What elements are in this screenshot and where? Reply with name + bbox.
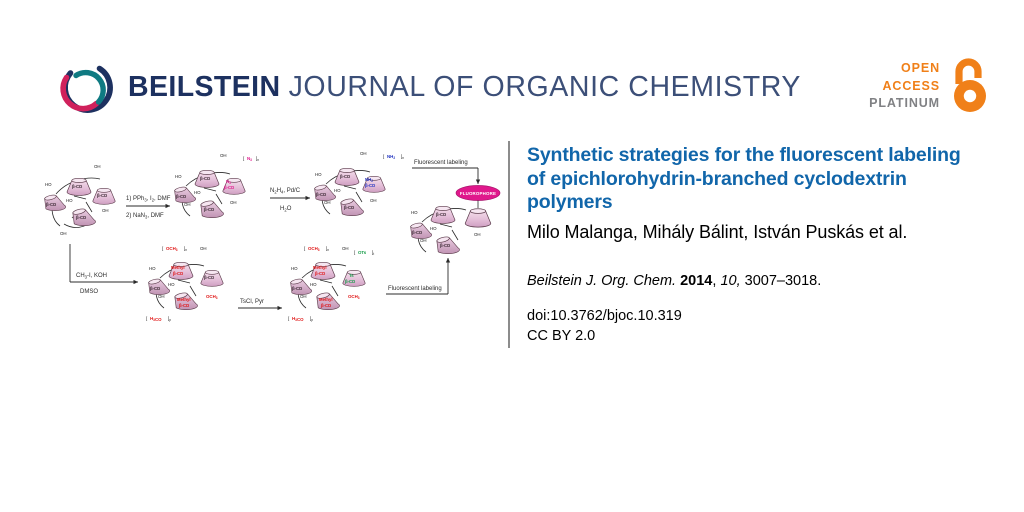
beilstein-swirl-logo-icon — [52, 56, 118, 122]
svg-text:β-CD: β-CD — [97, 193, 107, 198]
svg-text:]t: ]t — [372, 250, 374, 256]
reagent-step3b: DMSO — [80, 289, 98, 295]
svg-text:β-CD: β-CD — [46, 202, 56, 207]
citation-journal: Beilstein J. Org. Chem. — [527, 273, 676, 289]
svg-text:OH: OH — [230, 200, 237, 205]
reagent-step1a: 1) PPh3, I2, DMF — [126, 196, 171, 203]
svg-text:β-CD: β-CD — [345, 279, 355, 284]
wordmark-beilstein: BEILSTEIN — [128, 71, 280, 103]
svg-text:HO: HO — [168, 282, 175, 287]
open-padlock-icon — [946, 58, 996, 116]
masthead: BEILSTEIN JOURNAL OF ORGANIC CHEMISTRY O… — [0, 0, 1024, 132]
svg-text:OH: OH — [60, 231, 67, 236]
svg-text:β-CD: β-CD — [316, 192, 326, 197]
structure-tosylated-polymer: β-CD Methyl β-CD Ts β-CD Methyl β-CD OH … — [288, 246, 374, 322]
svg-text:H3CO: H3CO — [292, 316, 304, 322]
article-title[interactable]: Synthetic strategies for the fluorescent… — [527, 144, 977, 215]
svg-text:HO: HO — [149, 266, 156, 271]
svg-text:Methyl: Methyl — [171, 265, 185, 270]
svg-text:[: [ — [288, 316, 290, 321]
svg-text:β-CD: β-CD — [315, 271, 325, 276]
article-license[interactable]: CC BY 2.0 — [527, 327, 595, 347]
svg-text:β-CD: β-CD — [150, 286, 160, 291]
article-doi[interactable]: doi:10.3762/bjoc.10.319 — [527, 307, 682, 327]
reagent-step2b: H2O — [280, 206, 292, 213]
citation-year: 2014 — [680, 273, 712, 289]
svg-text:β-CD: β-CD — [173, 271, 183, 276]
svg-text:H3CO: H3CO — [150, 316, 162, 322]
svg-text:OH: OH — [200, 246, 207, 251]
reaction-arrow-reduction: N2H4, Pd/C H2O — [270, 188, 310, 213]
svg-text:β-CD: β-CD — [204, 275, 214, 280]
reagent-step2a: N2H4, Pd/C — [270, 188, 301, 195]
svg-text:HO: HO — [45, 182, 52, 187]
citation-volume: 10, — [720, 273, 740, 289]
svg-text:Methyl: Methyl — [319, 297, 333, 302]
svg-text:β-CD: β-CD — [365, 183, 375, 188]
svg-text:N3: N3 — [247, 156, 252, 162]
svg-text:OH: OH — [370, 198, 377, 203]
svg-text:HO: HO — [430, 226, 437, 231]
oa-line-open: OPEN — [869, 60, 940, 78]
svg-text:β-CD: β-CD — [412, 230, 422, 235]
reaction-arrow-methylation: CH3-I, KOH DMSO — [70, 244, 138, 295]
svg-text:β-CD: β-CD — [72, 184, 82, 189]
svg-text:]n: ]n — [256, 156, 259, 162]
svg-text:HO: HO — [291, 266, 298, 271]
svg-text:β-CD: β-CD — [200, 176, 210, 181]
svg-text:]n: ]n — [326, 246, 329, 252]
svg-text:HO: HO — [315, 172, 322, 177]
structure-methylated-polymer: β-CD Methyl β-CD β-CD Methyl β-CD OH HO … — [146, 246, 223, 322]
open-access-label: OPEN ACCESS PLATINUM — [869, 60, 940, 113]
svg-text:OH: OH — [420, 238, 427, 243]
open-access-badge: OPEN ACCESS PLATINUM — [872, 58, 996, 120]
svg-text:OCH3: OCH3 — [308, 246, 320, 252]
label-fluorescent-labeling-bottom: Fluorescent labeling — [388, 286, 442, 292]
label-fluorescent-labeling-top: Fluorescent labeling — [414, 160, 468, 166]
structure-starting-polymer: β-CD β-CD β-CD β-CD OH HO HO OH OH — [44, 164, 115, 236]
svg-text:β-CD: β-CD — [321, 303, 331, 308]
svg-text:OTs: OTs — [358, 250, 367, 255]
svg-text:β-CD: β-CD — [292, 286, 302, 291]
svg-text:OH: OH — [102, 208, 109, 213]
svg-text:NH2: NH2 — [387, 154, 395, 160]
svg-text:HO: HO — [194, 190, 201, 195]
svg-text:HO: HO — [334, 188, 341, 193]
svg-text:β-CD: β-CD — [440, 243, 450, 248]
svg-text:β-CD: β-CD — [340, 174, 350, 179]
svg-text:β-CD: β-CD — [76, 215, 86, 220]
svg-text:OH: OH — [220, 153, 227, 158]
svg-text:OH: OH — [360, 151, 367, 156]
panel-divider — [508, 141, 510, 348]
svg-text:Methyl: Methyl — [313, 265, 327, 270]
svg-text:[: [ — [304, 246, 306, 251]
svg-text:OCH3: OCH3 — [166, 246, 178, 252]
structure-amine-polymer: β-CD β-CD NH2 β-CD β-CD OH HO HO OH OH [… — [314, 151, 404, 216]
svg-text:HO: HO — [310, 282, 317, 287]
svg-text:HO: HO — [66, 198, 73, 203]
reaction-arrow-azidation: 1) PPh3, I2, DMF 2) NaN3, DMF — [126, 196, 171, 220]
oa-line-access: ACCESS — [869, 78, 940, 96]
citation-pages: 3007–3018. — [745, 273, 822, 289]
svg-text:β-CD: β-CD — [179, 303, 189, 308]
fluorophore-label: FLUOROPHORE — [460, 191, 496, 196]
reagent-step4: TsCl, Pyr — [240, 299, 264, 305]
article-citation: Beilstein J. Org. Chem. 2014, 10, 3007–3… — [527, 272, 987, 290]
svg-text:β-CD: β-CD — [436, 212, 446, 217]
svg-text:OCH3: OCH3 — [206, 294, 218, 300]
svg-text:HO: HO — [411, 210, 418, 215]
reagent-step1b: 2) NaN3, DMF — [126, 213, 164, 220]
svg-text:[: [ — [162, 246, 164, 251]
svg-text:OH: OH — [300, 294, 307, 299]
reagent-step3a: CH3-I, KOH — [76, 273, 107, 280]
svg-text:OH: OH — [184, 202, 191, 207]
svg-text:]p: ]p — [168, 316, 171, 322]
svg-text:]n: ]n — [401, 154, 404, 160]
svg-text:β-CD: β-CD — [176, 194, 186, 199]
graphical-abstract-scheme: β-CD β-CD β-CD β-CD OH HO HO OH OH 1) PP… — [34, 136, 504, 351]
structure-azide-polymer: β-CD β-CD N3 β-CD β-CD OH HO HO OH OH [ … — [174, 153, 259, 218]
wordmark-journal-of-organic-chemistry: JOURNAL OF ORGANIC CHEMISTRY — [289, 71, 801, 103]
svg-text:OH: OH — [342, 246, 349, 251]
svg-text:β-CD: β-CD — [224, 185, 234, 190]
svg-text:OH: OH — [474, 232, 481, 237]
svg-text:OCH3: OCH3 — [348, 294, 360, 300]
oa-line-platinum: PLATINUM — [869, 95, 940, 113]
svg-text:OH: OH — [94, 164, 101, 169]
svg-text:β-CD: β-CD — [204, 207, 214, 212]
svg-text:OH: OH — [158, 294, 165, 299]
fluorescent-labeling-bottom: Fluorescent labeling — [386, 258, 448, 294]
journal-wordmark: BEILSTEIN JOURNAL OF ORGANIC CHEMISTRY — [128, 70, 801, 104]
svg-text:Ts: Ts — [349, 273, 354, 278]
fluorescent-labeling-top: Fluorescent labeling — [412, 160, 478, 184]
svg-text:]n: ]n — [184, 246, 187, 252]
structure-fluorophore-product: FLUOROPHORE β-CD β-CD β-CD HO HO OH OH — [410, 186, 500, 254]
svg-text:Methyl: Methyl — [177, 297, 191, 302]
svg-text:[: [ — [146, 316, 148, 321]
svg-text:[: [ — [383, 154, 385, 159]
reaction-arrow-tosylation: TsCl, Pyr — [238, 299, 282, 308]
svg-text:β-CD: β-CD — [344, 205, 354, 210]
svg-text:[: [ — [354, 250, 356, 255]
svg-text:[: [ — [243, 156, 245, 161]
svg-text:OH: OH — [324, 200, 331, 205]
article-info-panel: Synthetic strategies for the fluorescent… — [508, 141, 1008, 349]
svg-text:HO: HO — [175, 174, 182, 179]
article-authors: Milo Malanga, Mihály Bálint, István Pusk… — [527, 221, 987, 243]
svg-text:]p: ]p — [310, 316, 313, 322]
